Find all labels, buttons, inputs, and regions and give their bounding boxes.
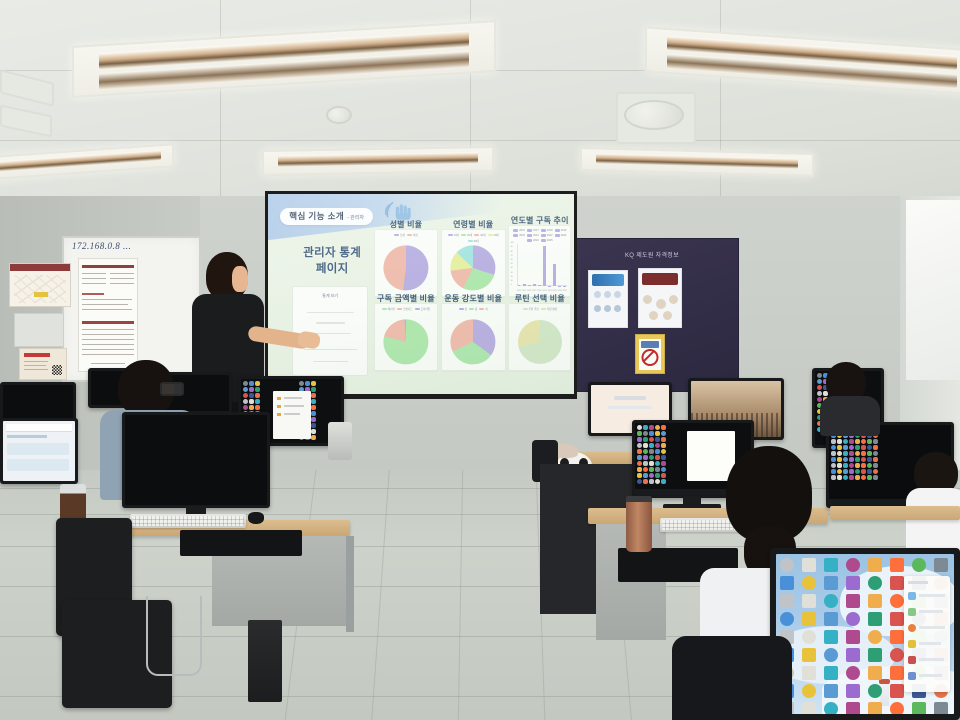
wall-poster-blank <box>14 313 64 347</box>
desktop-icon[interactable] <box>637 431 642 436</box>
legend-item: 2022 <box>541 234 553 237</box>
desktop-icon[interactable] <box>867 463 872 468</box>
chart-title: 루틴 선택 비율 <box>509 293 570 304</box>
desktop-icon[interactable] <box>824 666 838 680</box>
monitor <box>122 412 270 508</box>
desktop-icon[interactable] <box>868 612 882 626</box>
chart-title: 성별 비율 <box>375 219 438 230</box>
legend-item: 2023 <box>555 234 567 237</box>
chart-card: 루틴 선택 비율추천 루틴직접 생성 <box>508 303 571 371</box>
legend-item: 중 <box>469 307 477 311</box>
desktop-icon[interactable] <box>637 425 642 430</box>
chart-legend: 베이직스탠다드프리미엄 <box>375 307 438 311</box>
foreground-student <box>672 636 792 720</box>
desktop-icon[interactable] <box>890 576 904 590</box>
desktop-icon[interactable] <box>311 423 316 428</box>
ceiling-light-fixture <box>645 26 960 95</box>
desktop-icon[interactable] <box>649 449 654 454</box>
chart-legend: 10대20대30대40대50대 <box>442 233 505 243</box>
desktop-icon[interactable] <box>305 381 310 386</box>
legend-item: 베이직 <box>382 307 395 311</box>
desktop-icon[interactable] <box>849 451 854 456</box>
ceiling-light-fixture <box>72 20 496 98</box>
no-smoking-sign <box>635 334 665 374</box>
bar <box>533 284 536 287</box>
desktop-icon[interactable] <box>249 405 254 410</box>
desktop-icon[interactable] <box>912 702 926 714</box>
desktop-icon[interactable] <box>311 411 316 416</box>
desktop-icon[interactable] <box>643 431 648 436</box>
air-vent <box>0 104 52 137</box>
chart-card: 연도별 구독 추이2016201720182019202020212022202… <box>508 225 571 297</box>
desktop-icon[interactable] <box>846 684 860 698</box>
desktop-icon[interactable] <box>837 445 842 450</box>
ceiling-speaker <box>326 106 352 124</box>
desktop-icon[interactable] <box>311 429 316 434</box>
legend-item: 상 <box>459 307 467 311</box>
desktop-icon[interactable] <box>831 469 836 474</box>
desktop-icon[interactable] <box>802 630 816 644</box>
desktop-icon[interactable] <box>846 594 860 608</box>
desktop-icon[interactable] <box>846 648 860 662</box>
desktop-icon[interactable] <box>890 594 904 608</box>
desktop-icon[interactable] <box>255 393 260 398</box>
whiteboard-handwriting: 172.168.0.8 ... <box>72 241 192 251</box>
desktop-icon[interactable] <box>861 445 866 450</box>
desktop-icon[interactable] <box>861 439 866 444</box>
legend-item: 추천 루틴 <box>523 307 539 311</box>
legend-item: 2016 <box>513 229 525 232</box>
mouse[interactable] <box>248 512 264 524</box>
chart-legend: 2016201720182019202020212022202320242025 <box>509 229 570 242</box>
legend-item: 하 <box>479 307 487 311</box>
desktop-icon[interactable] <box>831 451 836 456</box>
projector-device <box>328 422 352 460</box>
legend-item: 40대 <box>488 233 499 237</box>
desktop-icon[interactable] <box>831 457 836 462</box>
desktop-icon[interactable] <box>780 612 794 626</box>
desktop-icon[interactable] <box>855 457 860 462</box>
desktop-icon[interactable] <box>655 437 660 442</box>
bar-chart: 0102030405060708090100201620172018201920… <box>517 244 568 286</box>
desktop-icon[interactable] <box>255 381 260 386</box>
desktop-icon[interactable] <box>243 387 248 392</box>
desktop-icon[interactable] <box>846 612 860 626</box>
desktop-icon[interactable] <box>855 439 860 444</box>
desktop-icon[interactable] <box>661 455 666 460</box>
ceiling-speaker <box>624 100 684 130</box>
desktop-icon[interactable] <box>649 479 654 484</box>
desktop-icon[interactable] <box>249 381 254 386</box>
desktop-icon[interactable] <box>890 702 904 714</box>
desktop-icon[interactable] <box>780 594 794 608</box>
pie-chart <box>383 320 428 365</box>
desktop-icon[interactable] <box>637 479 642 484</box>
desktop-icon[interactable] <box>661 425 666 430</box>
desktop-icon[interactable] <box>849 475 854 480</box>
desktop-icon[interactable] <box>849 469 854 474</box>
whiteboard-document <box>78 258 138 372</box>
desktop-icon[interactable] <box>649 455 654 460</box>
desktop-icon[interactable] <box>831 463 836 468</box>
desktop-icon[interactable] <box>780 576 794 590</box>
desktop-icon[interactable] <box>661 437 666 442</box>
legend-item: 2020 <box>513 234 525 237</box>
legend-item: 2018 <box>541 229 553 232</box>
desktop-icon[interactable] <box>643 479 648 484</box>
desktop-icon[interactable] <box>843 469 848 474</box>
desktop-icon[interactable] <box>649 467 654 472</box>
desktop-icon[interactable] <box>311 405 316 410</box>
desktop-icon[interactable] <box>661 473 666 478</box>
desktop-icon[interactable] <box>868 558 882 572</box>
window <box>906 200 960 380</box>
desktop-icon[interactable] <box>661 479 666 484</box>
desktop-icon[interactable] <box>637 473 642 478</box>
desktop-icon[interactable] <box>824 702 838 714</box>
pie-chart <box>383 246 428 291</box>
desktop-icon[interactable] <box>649 431 654 436</box>
desktop-icon[interactable] <box>802 576 816 590</box>
foreground-screen <box>776 554 954 714</box>
desktop-icon[interactable] <box>867 469 872 474</box>
desktop-icon[interactable] <box>643 461 648 466</box>
desktop-icon[interactable] <box>873 457 878 462</box>
desktop-icon[interactable] <box>655 425 660 430</box>
desktop-icon[interactable] <box>837 457 842 462</box>
desktop-icon[interactable] <box>861 457 866 462</box>
desktop-icon[interactable] <box>873 475 878 480</box>
desktop-icon[interactable] <box>846 576 860 590</box>
pie-chart <box>451 320 496 365</box>
chart-card: 구독 금액별 비율베이직스탠다드프리미엄 <box>374 303 439 371</box>
desktop-icon[interactable] <box>802 702 816 714</box>
desktop-icon[interactable] <box>855 445 860 450</box>
board-poster-health <box>588 270 628 328</box>
desktop-icon[interactable] <box>249 387 254 392</box>
desktop-icon[interactable] <box>873 469 878 474</box>
desktop-icon[interactable] <box>824 576 838 590</box>
ceiling-light-fixture <box>262 146 494 176</box>
desktop-icon[interactable] <box>802 594 816 608</box>
desktop-icon[interactable] <box>873 439 878 444</box>
desktop-icon[interactable] <box>846 666 860 680</box>
desktop-icon[interactable] <box>311 435 316 440</box>
desktop-icon[interactable] <box>873 445 878 450</box>
bar <box>553 264 556 286</box>
desktop-icon[interactable] <box>837 469 842 474</box>
desktop-icon[interactable] <box>868 648 882 662</box>
legend-item: 남성 <box>394 233 405 237</box>
desktop-icon[interactable] <box>802 648 816 662</box>
desktop-icon[interactable] <box>867 457 872 462</box>
foreground-monitor <box>770 548 960 720</box>
desktop-icon[interactable] <box>637 467 642 472</box>
desktop-icon[interactable] <box>802 666 816 680</box>
desktop-icon[interactable] <box>311 387 316 392</box>
desktop-icon[interactable] <box>649 461 654 466</box>
desktop-icon[interactable] <box>831 439 836 444</box>
desktop-icon[interactable] <box>643 425 648 430</box>
projector-screen: 핵심 기능 소개 - 관리자 관리자 통계 페이지 통계 보기 성별 비율남성여… <box>268 194 574 394</box>
desktop-icon[interactable] <box>849 445 854 450</box>
bar <box>528 285 531 287</box>
legend-item: 프리미엄 <box>415 307 431 311</box>
pie-chart <box>518 320 562 364</box>
air-vent <box>0 69 54 106</box>
desktop-icon[interactable] <box>824 558 838 572</box>
desktop-icon[interactable] <box>849 439 854 444</box>
wall-poster-map <box>9 263 71 307</box>
desktop-icon[interactable] <box>843 439 848 444</box>
desktop-icon[interactable] <box>837 463 842 468</box>
desktop-icon[interactable] <box>649 443 654 448</box>
desktop-icon[interactable] <box>824 684 838 698</box>
desktop-icon[interactable] <box>243 405 248 410</box>
desktop-icon[interactable] <box>846 558 860 572</box>
desktop-icon[interactable] <box>855 463 860 468</box>
wall-poster-notice <box>19 348 67 380</box>
legend-item: 직접 생성 <box>541 307 557 311</box>
desktop-icon[interactable] <box>890 666 904 680</box>
desktop-icon[interactable] <box>255 399 260 404</box>
desktop-icon[interactable] <box>655 479 660 484</box>
desktop-icon[interactable] <box>802 612 816 626</box>
desktop-icon[interactable] <box>867 445 872 450</box>
chart-legend: 남성여성 <box>375 233 438 237</box>
desktop-icon[interactable] <box>780 558 794 572</box>
desktop-icon[interactable] <box>873 463 878 468</box>
desktop-icon[interactable] <box>655 467 660 472</box>
desktop-icon[interactable] <box>868 594 882 608</box>
desktop-icon[interactable] <box>643 449 648 454</box>
classroom-scene: 172.168.0.8 ... KQ 제도원 자격정보 <box>0 0 960 720</box>
chart-title: 운동 강도별 비율 <box>442 293 505 304</box>
legend-item: 50대 <box>468 239 479 243</box>
slide-section-pill: 핵심 기능 소개 - 관리자 <box>280 208 373 225</box>
desktop-icon[interactable] <box>311 381 316 386</box>
bar <box>518 285 521 286</box>
desktop-icon[interactable] <box>843 457 848 462</box>
desktop-icon[interactable] <box>837 451 842 456</box>
desktop-icon[interactable] <box>868 630 882 644</box>
mouse-pad <box>180 530 302 556</box>
chart-title: 연령별 비율 <box>442 219 505 230</box>
desktop-icon[interactable] <box>890 684 904 698</box>
chart-title: 연도별 구독 추이 <box>509 215 570 226</box>
desktop-icon[interactable] <box>249 393 254 398</box>
chart-legend: 상중하 <box>442 307 505 311</box>
desktop-icon[interactable] <box>643 443 648 448</box>
chart-title: 구독 금액별 비율 <box>375 293 438 304</box>
desktop-icon[interactable] <box>637 449 642 454</box>
desktop-icon[interactable] <box>867 451 872 456</box>
desktop-icon[interactable] <box>824 594 838 608</box>
desktop-icon[interactable] <box>311 393 316 398</box>
desktop-icon[interactable] <box>637 461 642 466</box>
desktop-icon[interactable] <box>661 443 666 448</box>
desktop-icon[interactable] <box>637 443 642 448</box>
desktop-icon[interactable] <box>843 463 848 468</box>
ceiling-light-fixture <box>0 143 174 181</box>
desktop-icon[interactable] <box>649 473 654 478</box>
desktop-icon[interactable] <box>649 425 654 430</box>
legend-item: 10대 <box>448 233 459 237</box>
legend-item: 2025 <box>541 239 553 242</box>
desktop-icon[interactable] <box>802 558 816 572</box>
slide-pill-title: 핵심 기능 소개 <box>289 210 344 222</box>
legend-item: 여성 <box>407 233 418 237</box>
bar <box>523 284 526 286</box>
desktop-icon[interactable] <box>843 451 848 456</box>
notification-panel[interactable] <box>904 576 950 692</box>
desktop-icon[interactable] <box>843 445 848 450</box>
desktop-icon[interactable] <box>868 684 882 698</box>
desktop-icon[interactable] <box>849 457 854 462</box>
desktop-icon[interactable] <box>655 461 660 466</box>
desktop-icon[interactable] <box>661 461 666 466</box>
desktop-icon[interactable] <box>243 393 248 398</box>
legend-item: 2021 <box>527 234 539 237</box>
desktop-icon[interactable] <box>890 630 904 644</box>
desktop-icon[interactable] <box>802 684 816 698</box>
desktop-icon[interactable] <box>255 405 260 410</box>
bar <box>538 285 541 286</box>
desktop-icon[interactable] <box>861 451 866 456</box>
desktop-icon[interactable] <box>655 431 660 436</box>
desktop-icon[interactable] <box>311 399 316 404</box>
desktop-icon[interactable] <box>837 475 842 480</box>
desktop-icon[interactable] <box>861 463 866 468</box>
desktop-icon[interactable] <box>643 437 648 442</box>
desktop-icon[interactable] <box>824 630 838 644</box>
desktop-icon[interactable] <box>934 558 948 572</box>
desktop-icon[interactable] <box>843 475 848 480</box>
desktop-icon[interactable] <box>643 455 648 460</box>
chart-legend: 추천 루틴직접 생성 <box>509 307 570 311</box>
ceiling <box>0 0 960 205</box>
desktop-icon[interactable] <box>890 612 904 626</box>
desktop-icon[interactable] <box>855 475 860 480</box>
monitor <box>0 418 78 484</box>
board-poster-safety <box>638 268 682 328</box>
desktop-icon[interactable] <box>643 467 648 472</box>
desktop-icon[interactable] <box>661 467 666 472</box>
desktop-icon[interactable] <box>934 702 948 714</box>
desktop-icon[interactable] <box>867 475 872 480</box>
ceiling-light-fixture <box>580 147 814 177</box>
desktop-icon[interactable] <box>661 431 666 436</box>
desktop-icon[interactable] <box>846 702 860 714</box>
presentation-slide: 핵심 기능 소개 - 관리자 관리자 통계 페이지 통계 보기 성별 비율남성여… <box>268 194 574 394</box>
desktop-icon[interactable] <box>868 702 882 714</box>
desktop-icon[interactable] <box>255 387 260 392</box>
slide-pill-sub: - 관리자 <box>347 214 364 221</box>
legend-item: 2019 <box>555 229 567 232</box>
desktop-icon[interactable] <box>861 475 866 480</box>
chart-card: 성별 비율남성여성 <box>374 229 439 297</box>
desktop-icon[interactable] <box>311 417 316 422</box>
student-far-right <box>820 362 880 432</box>
desktop-icon[interactable] <box>861 469 866 474</box>
desktop-icon[interactable] <box>643 473 648 478</box>
desktop-icon[interactable] <box>855 451 860 456</box>
desktop-icon[interactable] <box>837 439 842 444</box>
desk <box>830 506 960 520</box>
desktop-icon[interactable] <box>637 455 642 460</box>
keyboard[interactable] <box>130 514 246 528</box>
desktop-icon[interactable] <box>637 437 642 442</box>
chart-card: 연령별 비율10대20대30대40대50대 <box>441 229 506 297</box>
bar <box>543 246 546 286</box>
pc-tower <box>248 620 282 702</box>
legend-item: 2017 <box>527 229 539 232</box>
desktop-icon[interactable] <box>868 666 882 680</box>
pie-chart <box>451 246 496 291</box>
desktop-icon[interactable] <box>249 399 254 404</box>
desktop-icon[interactable] <box>655 449 660 454</box>
chart-card: 운동 강도별 비율상중하 <box>441 303 506 371</box>
desktop-icon[interactable] <box>855 469 860 474</box>
desktop-icon[interactable] <box>868 576 882 590</box>
legend-item: 스탠다드 <box>397 307 413 311</box>
desktop-icon[interactable] <box>824 612 838 626</box>
desktop-icon[interactable] <box>655 443 660 448</box>
desktop-icon[interactable] <box>243 381 248 386</box>
desktop-icon[interactable] <box>243 399 248 404</box>
no-smoking-icon <box>642 349 659 366</box>
chair-armrest <box>146 596 202 676</box>
desktop-icon[interactable] <box>299 381 304 386</box>
desktop-icon[interactable] <box>831 475 836 480</box>
desktop-icon[interactable] <box>655 455 660 460</box>
desktop-icon[interactable] <box>849 463 854 468</box>
desktop-icon[interactable] <box>867 439 872 444</box>
desktop-icon-grid <box>637 425 666 484</box>
legend-item: 20대 <box>461 233 472 237</box>
desktop-icon[interactable] <box>831 445 836 450</box>
desktop-icon[interactable] <box>873 451 878 456</box>
desktop-icon[interactable] <box>661 449 666 454</box>
board-logo-text: KQ 제도원 자격정보 <box>625 250 685 260</box>
desktop-icon[interactable] <box>890 648 904 662</box>
desktop-icon[interactable] <box>890 558 904 572</box>
desktop-icon[interactable] <box>655 473 660 478</box>
legend-item: 2024 <box>527 239 539 242</box>
desktop-icon[interactable] <box>846 630 860 644</box>
legend-item: 30대 <box>474 233 485 237</box>
desktop-icon[interactable] <box>649 437 654 442</box>
desktop-icon[interactable] <box>912 558 926 572</box>
tumbler <box>626 496 652 552</box>
desktop-icon[interactable] <box>824 648 838 662</box>
